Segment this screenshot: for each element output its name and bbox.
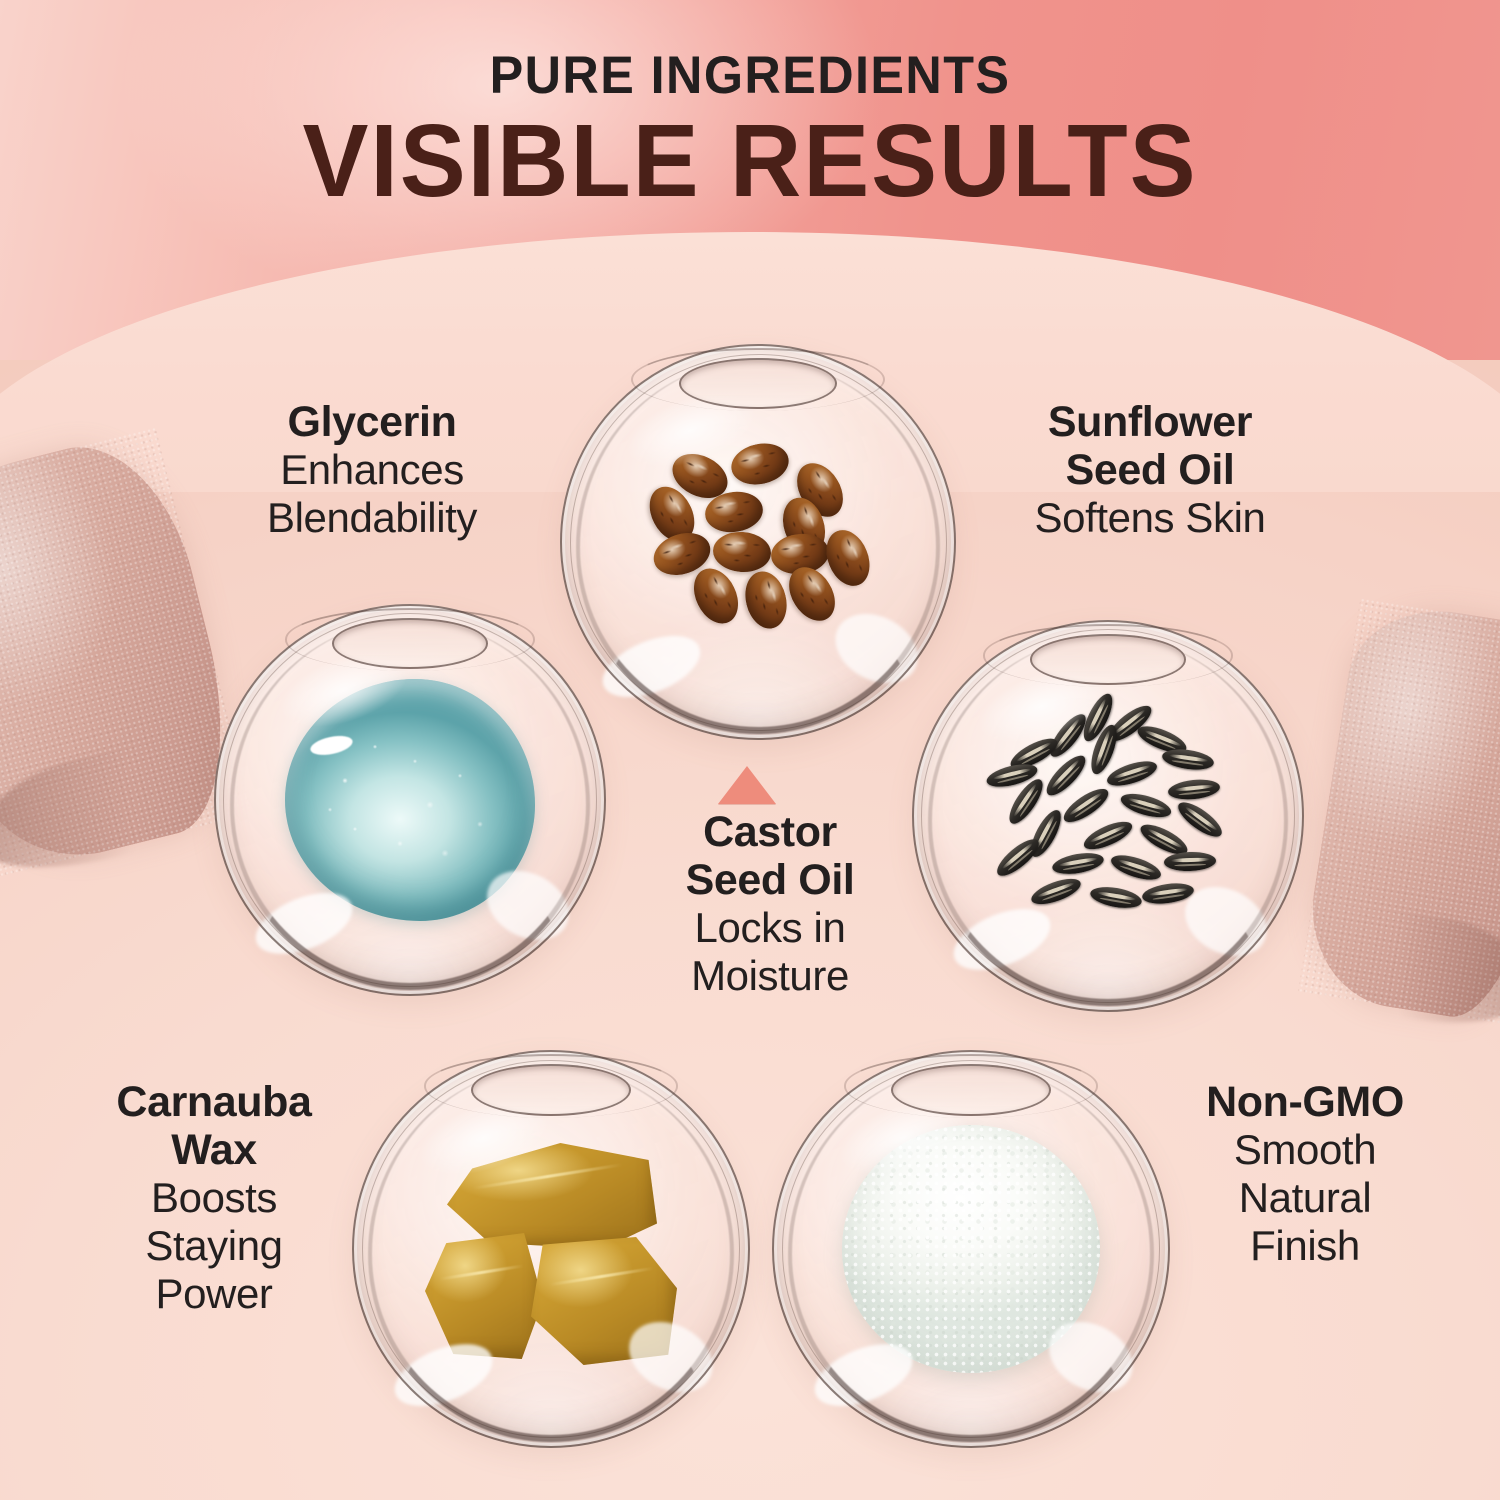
ingredient-desc-line: Staying: [46, 1222, 382, 1270]
ingredient-desc-line: Moisture: [608, 952, 932, 1000]
page-title: PURE INGREDIENTS VISIBLE RESULTS: [0, 48, 1500, 213]
ingredient-label-carnauba: Carnauba Wax Boosts Staying Power: [46, 1078, 382, 1318]
sphere-opening-lip: [1030, 634, 1187, 685]
title-line-2: VISIBLE RESULTS: [30, 108, 1470, 213]
ingredient-label-nongmo: Non-GMO Smooth Natural Finish: [1122, 1078, 1488, 1270]
ingredient-orb-nongmo: [772, 1050, 1170, 1448]
sphere-bottom-arc: [368, 1066, 734, 1442]
triangle-up-icon: [718, 766, 776, 804]
infographic-canvas: PURE INGREDIENTS VISIBLE RESULTS: [0, 0, 1500, 1500]
sphere-bottom-arc: [230, 620, 591, 990]
ingredient-name-line: Wax: [46, 1126, 382, 1174]
ingredient-label-castor: Castor Seed Oil Locks in Moisture: [608, 808, 932, 1000]
ingredient-name-line: Seed Oil: [948, 446, 1352, 494]
title-line-1: PURE INGREDIENTS: [38, 48, 1463, 104]
ingredient-desc-line: Locks in: [608, 904, 932, 952]
ingredient-orb-glycerin: [214, 604, 606, 996]
sphere-bottom-arc: [788, 1066, 1154, 1442]
ingredient-orb-sunflower: [912, 620, 1304, 1012]
sphere-bottom-arc: [576, 360, 940, 734]
ingredient-desc-line: Smooth: [1122, 1126, 1488, 1174]
sphere-opening-lip: [332, 618, 489, 669]
ingredient-name-line: Castor: [608, 808, 932, 856]
ingredient-name-line: Sunflower: [948, 398, 1352, 446]
ingredient-name: Glycerin: [172, 398, 572, 446]
ingredient-label-sunflower: Sunflower Seed Oil Softens Skin: [948, 398, 1352, 542]
ingredient-desc-line: Blendability: [172, 494, 572, 542]
sphere-opening-lip: [891, 1064, 1050, 1116]
ingredient-desc-line: Power: [46, 1270, 382, 1318]
ingredient-desc-line: Natural: [1122, 1174, 1488, 1222]
ingredient-desc-line: Enhances: [172, 446, 572, 494]
sphere-opening-lip: [679, 358, 837, 409]
ingredient-orb-castor: [560, 344, 956, 740]
ingredient-name-line: Carnauba: [46, 1078, 382, 1126]
ingredient-desc-line: Softens Skin: [948, 494, 1352, 542]
sphere-bottom-arc: [928, 636, 1289, 1006]
ingredient-desc-line: Finish: [1122, 1222, 1488, 1270]
ingredient-desc-line: Boosts: [46, 1174, 382, 1222]
ingredient-name-line: Seed Oil: [608, 856, 932, 904]
ingredient-orb-carnauba: [352, 1050, 750, 1448]
ingredient-label-glycerin: Glycerin Enhances Blendability: [172, 398, 572, 542]
ingredient-name: Non-GMO: [1122, 1078, 1488, 1126]
sphere-opening-lip: [471, 1064, 630, 1116]
